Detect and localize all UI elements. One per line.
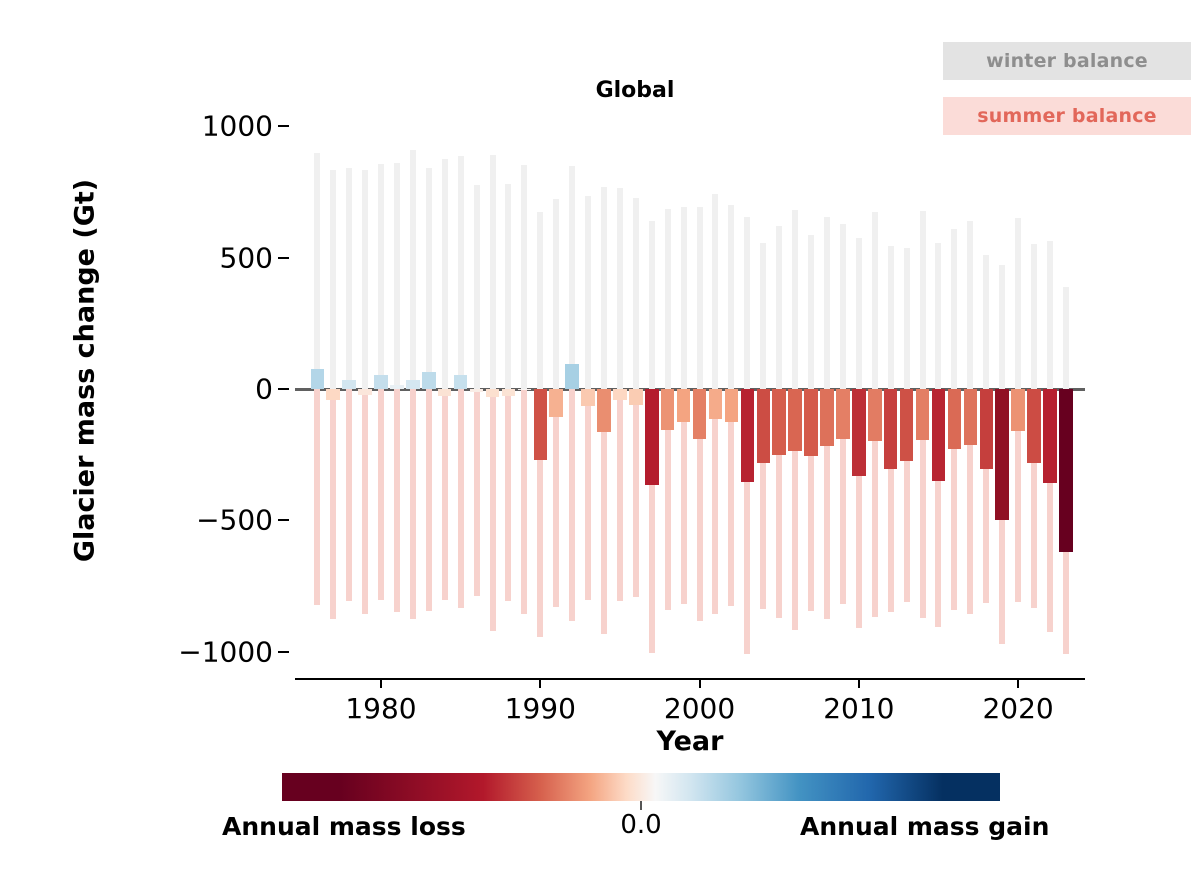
winter-balance-bar xyxy=(490,155,496,389)
colorbar-center-label: 0.0 xyxy=(620,810,661,840)
summer-balance-bar xyxy=(633,389,639,597)
annual-balance-bar xyxy=(995,389,1009,520)
annual-balance-bar xyxy=(645,389,659,485)
annual-balance-bar xyxy=(613,389,627,400)
winter-balance-bar xyxy=(1015,218,1021,389)
annual-balance-bar xyxy=(1011,389,1025,431)
winter-balance-bar xyxy=(330,170,336,389)
winter-balance-bar xyxy=(585,196,591,389)
x-tick-label: 1980 xyxy=(345,692,416,725)
winter-balance-bar xyxy=(872,212,878,389)
summer-balance-bar xyxy=(521,389,527,614)
annual-balance-bar xyxy=(549,389,563,417)
winter-balance-bar xyxy=(712,194,718,389)
annual-balance-bar xyxy=(438,389,452,396)
summer-balance-bar xyxy=(426,389,432,611)
winter-balance-bar xyxy=(840,224,846,389)
annual-balance-bar xyxy=(948,389,962,449)
x-tick-mark xyxy=(380,679,382,688)
winter-balance-bar xyxy=(1063,287,1069,389)
winter-balance-bar xyxy=(728,205,734,389)
annual-balance-bar xyxy=(629,389,643,405)
y-tick-label: −500 xyxy=(196,504,273,537)
annual-balance-bar xyxy=(534,389,548,460)
winter-balance-bar xyxy=(378,164,384,389)
colorbar-center-tick xyxy=(640,801,642,810)
annual-balance-bar xyxy=(868,389,882,441)
y-tick-label: 0 xyxy=(255,373,273,406)
annual-balance-bar xyxy=(820,389,834,446)
y-tick-mark xyxy=(278,519,289,521)
x-tick-label: 2020 xyxy=(982,692,1053,725)
summer-balance-bar xyxy=(712,389,718,614)
annual-balance-bar xyxy=(1043,389,1057,483)
annual-balance-bar xyxy=(486,389,500,397)
winter-balance-bar xyxy=(1047,241,1053,389)
annual-balance-bar xyxy=(772,389,786,455)
y-tick-mark xyxy=(278,257,289,259)
winter-balance-bar xyxy=(999,265,1005,389)
annual-balance-bar xyxy=(788,389,802,451)
annual-balance-bar xyxy=(932,389,946,481)
x-tick-mark xyxy=(699,679,701,688)
annual-balance-bar xyxy=(358,389,372,395)
annual-balance-bar xyxy=(581,389,595,406)
winter-balance-bar xyxy=(314,153,320,389)
annual-balance-bar xyxy=(709,389,723,419)
annual-balance-bar xyxy=(1059,389,1073,552)
winter-balance-bar xyxy=(505,184,511,389)
annual-balance-bar xyxy=(852,389,866,476)
winter-balance-bar xyxy=(474,185,480,389)
winter-balance-bar xyxy=(410,150,416,389)
winter-balance-bar xyxy=(394,163,400,389)
annual-balance-bar xyxy=(980,389,994,469)
winter-balance-bar xyxy=(649,221,655,389)
annual-balance-bar xyxy=(964,389,978,445)
winter-balance-bar xyxy=(601,187,607,389)
winter-balance-bar xyxy=(458,156,464,389)
chart-root: winter balance summer balance Global Gla… xyxy=(0,0,1200,890)
winter-balance-bar xyxy=(824,217,830,389)
annual-balance-bar xyxy=(454,375,468,389)
y-tick-label: 500 xyxy=(220,241,273,274)
winter-balance-bar xyxy=(935,243,941,389)
winter-balance-bar xyxy=(426,168,432,389)
legend-winter-balance: winter balance xyxy=(943,42,1191,80)
winter-balance-bar xyxy=(521,165,527,389)
summer-balance-bar xyxy=(330,389,336,619)
winter-balance-bar xyxy=(776,226,782,389)
summer-balance-bar xyxy=(442,389,448,600)
winter-balance-bar xyxy=(888,246,894,389)
winter-balance-bar xyxy=(665,209,671,389)
winter-balance-bar xyxy=(792,210,798,389)
winter-balance-bar xyxy=(808,235,814,389)
winter-balance-bar xyxy=(569,166,575,389)
summer-balance-bar xyxy=(505,389,511,601)
y-tick-mark xyxy=(278,388,289,390)
colorbar xyxy=(282,773,1000,801)
y-tick-mark xyxy=(278,651,289,653)
summer-balance-bar xyxy=(378,389,384,600)
summer-balance-bar xyxy=(617,389,623,601)
summer-balance-bar xyxy=(474,389,480,596)
winter-balance-bar xyxy=(904,248,910,389)
winter-balance-bar xyxy=(1031,244,1037,389)
annual-balance-bar xyxy=(390,385,404,389)
annual-balance-bar xyxy=(900,389,914,461)
y-tick-label: 1000 xyxy=(202,110,273,143)
y-axis-label: Glacier mass change (Gt) xyxy=(70,161,101,581)
annual-balance-bar xyxy=(884,389,898,469)
annual-balance-bar xyxy=(1027,389,1041,463)
winter-balance-bar xyxy=(856,238,862,389)
annual-balance-bar xyxy=(422,372,436,389)
annual-balance-bar xyxy=(836,389,850,439)
annual-balance-bar xyxy=(311,369,325,389)
winter-balance-bar xyxy=(760,243,766,389)
x-tick-label: 2010 xyxy=(823,692,894,725)
x-tick-mark xyxy=(539,679,541,688)
summer-balance-bar xyxy=(362,389,368,614)
x-tick-label: 1990 xyxy=(505,692,576,725)
annual-balance-bar xyxy=(374,375,388,389)
y-tick-label: −1000 xyxy=(178,635,273,668)
x-axis-label: Year xyxy=(295,726,1085,757)
annual-balance-bar xyxy=(326,389,340,400)
winter-balance-bar xyxy=(362,170,368,389)
x-tick-label: 2000 xyxy=(664,692,735,725)
winter-balance-bar xyxy=(537,212,543,389)
annual-balance-bar xyxy=(693,389,707,439)
winter-balance-bar xyxy=(633,198,639,389)
winter-balance-bar xyxy=(617,188,623,389)
x-axis-line xyxy=(295,678,1085,680)
summer-balance-bar xyxy=(314,389,320,605)
winter-balance-bar xyxy=(553,199,559,389)
winter-balance-bar xyxy=(951,229,957,389)
summer-balance-bar xyxy=(458,389,464,608)
summer-balance-bar xyxy=(394,389,400,612)
summer-balance-bar xyxy=(346,389,352,601)
winter-balance-bar xyxy=(681,207,687,389)
annual-balance-bar xyxy=(804,389,818,456)
summer-balance-bar xyxy=(569,389,575,621)
annual-balance-bar xyxy=(725,389,739,422)
annual-balance-bar xyxy=(406,380,420,389)
annual-balance-bar xyxy=(502,389,516,396)
x-tick-mark xyxy=(858,679,860,688)
summer-balance-bar xyxy=(553,389,559,607)
winter-balance-bar xyxy=(744,217,750,389)
winter-balance-bar xyxy=(920,211,926,389)
summer-balance-bar xyxy=(410,389,416,619)
colorbar-right-label: Annual mass gain xyxy=(800,812,1049,841)
winter-balance-bar xyxy=(442,159,448,389)
x-tick-mark xyxy=(1017,679,1019,688)
summer-balance-bar xyxy=(490,389,496,631)
annual-balance-bar xyxy=(470,389,484,392)
annual-balance-bar xyxy=(565,364,579,389)
bars-container xyxy=(295,100,1085,678)
annual-balance-bar xyxy=(916,389,930,440)
colorbar-left-label: Annual mass loss xyxy=(222,812,466,841)
plot-area xyxy=(295,100,1085,678)
y-tick-mark xyxy=(278,125,289,127)
winter-balance-bar xyxy=(346,168,352,389)
annual-balance-bar xyxy=(597,389,611,432)
annual-balance-bar xyxy=(342,380,356,389)
winter-balance-bar xyxy=(983,255,989,389)
legend-winter-label: winter balance xyxy=(986,50,1148,72)
annual-balance-bar xyxy=(518,389,532,390)
annual-balance-bar xyxy=(661,389,675,430)
winter-balance-bar xyxy=(967,221,973,389)
summer-balance-bar xyxy=(585,389,591,600)
winter-balance-bar xyxy=(697,207,703,389)
annual-balance-bar xyxy=(757,389,771,463)
annual-balance-bar xyxy=(677,389,691,422)
annual-balance-bar xyxy=(741,389,755,482)
